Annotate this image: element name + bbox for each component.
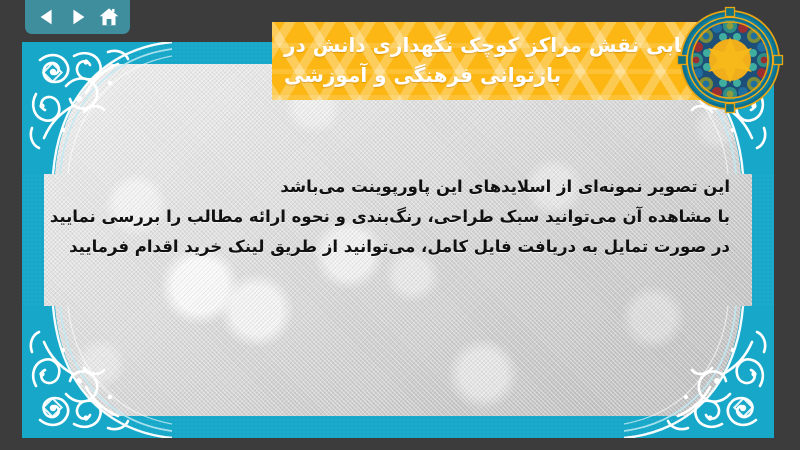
next-triangle-icon[interactable] (66, 5, 90, 29)
title-line: ارزیابی نقش مراکز کوچک نگهداری دانش در (284, 31, 719, 61)
persian-mosaic-medallion (676, 6, 784, 114)
page-title: ارزیابی نقش مراکز کوچک نگهداری دانش در ب… (272, 22, 728, 100)
slide-frame: این تصویر نمونه‌ای از اسلایدهای این پاور… (22, 42, 774, 438)
body-line: این تصویر نمونه‌ای از اسلایدهای این پاور… (82, 172, 730, 202)
title-line: بازتوانی فرهنگی و آموزشی (284, 61, 561, 91)
body-line: در صورت تمایل به دریافت فایل کامل، می‌تو… (82, 232, 730, 262)
body-line: با مشاهده آن می‌توانید سبک طراحی، رنگ‌بن… (82, 202, 730, 232)
home-icon[interactable] (97, 5, 121, 29)
slide-navigation-bar[interactable] (25, 0, 130, 34)
slide-title-banner: ارزیابی نقش مراکز کوچک نگهداری دانش در ب… (272, 22, 728, 100)
prev-triangle-icon[interactable] (35, 5, 59, 29)
slide-body-text: این تصویر نمونه‌ای از اسلایدهای این پاور… (82, 172, 730, 262)
